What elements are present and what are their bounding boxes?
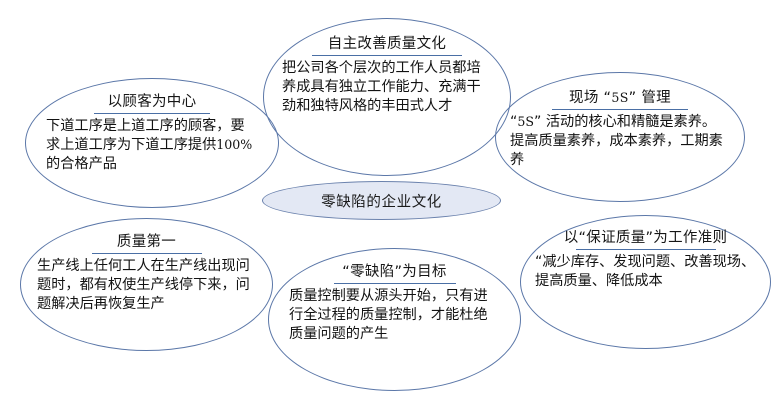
node-description: 把公司各个层次的工作人员都培养成具有独立工作能力、充满干劲和独特风格的丰田式人才 xyxy=(282,59,492,115)
node-body: 现场 “5S” 管理 “5S” 活动的核心和精髓是素养。提高质量素养，成本素养，… xyxy=(496,89,744,169)
node-description-text: ” 活动的核心和精髓是素养。提高质量素养，成本素养，工期素养 xyxy=(510,114,723,167)
ellipse-node-center[interactable]: 零缺陷的企业文化 xyxy=(262,181,501,220)
node-body: “零缺陷”为目标 质量控制要从源头开始，只有进行全过程的质量控制，才能杜绝质量问… xyxy=(269,263,520,343)
node-title: 现场 “5S” 管理 xyxy=(510,89,730,107)
node-description-latin: 100% xyxy=(216,137,252,152)
node-title: 以顾客为中心 xyxy=(46,93,258,111)
title-divider xyxy=(92,253,202,254)
title-divider xyxy=(94,113,210,114)
node-description: “5S” 活动的核心和精髓是素养。提高质量素养，成本素养，工期素养 xyxy=(510,113,730,169)
node-description-tail: 的合格产品 xyxy=(46,156,117,172)
node-title: 质量第一 xyxy=(37,233,256,251)
ellipse-node-customer[interactable]: 以顾客为中心 下道工序是上道工序的顾客，要求上道工序为下道工序提供100%的合格… xyxy=(25,78,279,208)
node-title: 以“保证质量”为工作准则 xyxy=(535,229,756,247)
title-divider xyxy=(334,283,456,284)
title-divider xyxy=(552,109,688,110)
node-title-suffix: ” 管理 xyxy=(629,90,671,106)
node-title: 自主改善质量文化 xyxy=(282,35,492,53)
ellipse-node-improve[interactable]: 自主改善质量文化 把公司各个层次的工作人员都培养成具有独立工作能力、充满干劲和独… xyxy=(263,18,511,176)
title-divider xyxy=(312,55,462,56)
node-description: 质量控制要从源头开始，只有进行全过程的质量控制，才能杜绝质量问题的产生 xyxy=(289,287,500,343)
node-title: “零缺陷”为目标 xyxy=(289,263,500,281)
node-description: 生产线上任何工人在生产线出现问题时，都有权使生产线停下来，问题解决后再恢复生产 xyxy=(37,257,256,313)
node-title-prefix: 现场 “ xyxy=(569,90,611,106)
node-title-latin: 5S xyxy=(611,90,628,105)
node-description-latin: 5S xyxy=(517,114,534,129)
ellipse-node-guarantee[interactable]: 以“保证质量”为工作准则 “减少库存、发现问题、改善现场、提高质量、降低成本 xyxy=(520,215,771,349)
node-body: 自主改善质量文化 把公司各个层次的工作人员都培养成具有独立工作能力、充满干劲和独… xyxy=(264,35,510,115)
ellipse-node-5s[interactable]: 现场 “5S” 管理 “5S” 活动的核心和精髓是素养。提高质量素养，成本素养，… xyxy=(495,72,745,202)
node-body: 以顾客为中心 下道工序是上道工序的顾客，要求上道工序为下道工序提供100%的合格… xyxy=(26,93,278,173)
node-description: “减少库存、发现问题、改善现场、提高质量、降低成本 xyxy=(535,253,756,290)
node-description: 下道工序是上道工序的顾客，要求上道工序为下道工序提供100%的合格产品 xyxy=(46,117,258,173)
node-description-text: 下道工序是上道工序的顾客，要求上道工序为下道工序提供 xyxy=(46,118,245,153)
node-body: 质量第一 生产线上任何工人在生产线出现问题时，都有权使生产线停下来，问题解决后再… xyxy=(21,233,272,313)
ellipse-node-zero-defect[interactable]: “零缺陷”为目标 质量控制要从源头开始，只有进行全过程的质量控制，才能杜绝质量问… xyxy=(268,248,521,391)
title-divider xyxy=(576,249,716,250)
node-body: 以“保证质量”为工作准则 “减少库存、发现问题、改善现场、提高质量、降低成本 xyxy=(521,229,770,291)
ellipse-node-quality[interactable]: 质量第一 生产线上任何工人在生产线出现问题时，都有权使生产线停下来，问题解决后再… xyxy=(20,218,273,351)
center-label: 零缺陷的企业文化 xyxy=(263,190,500,211)
diagram-canvas: 以顾客为中心 下道工序是上道工序的顾客，要求上道工序为下道工序提供100%的合格… xyxy=(0,0,782,402)
